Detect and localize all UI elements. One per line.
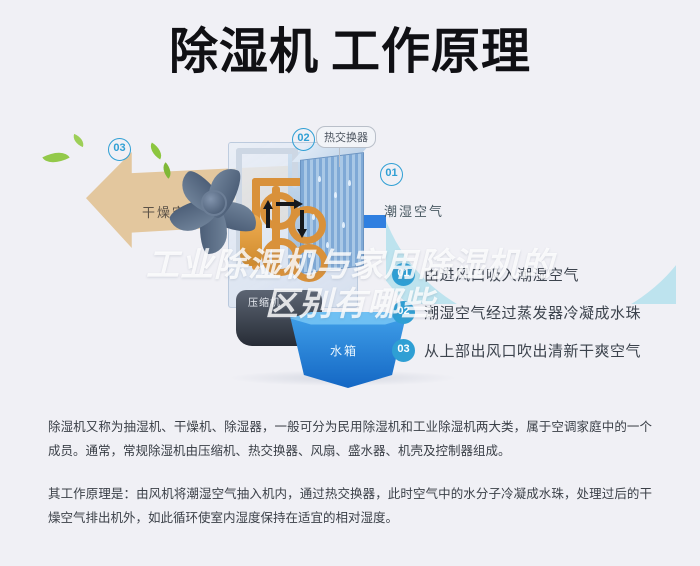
badge-number: 02 [292, 128, 315, 151]
heat-exchanger-callout: 热交换器 [316, 126, 376, 148]
step-text: 由进风口吸入潮湿空气 [424, 264, 579, 285]
badge-number: 01 [380, 163, 403, 186]
condensation-drop [334, 192, 337, 198]
step-text: 从上部出风口吹出清新干爽空气 [424, 340, 641, 361]
badge-number: 03 [108, 138, 131, 161]
page-root: 除湿机工作原理 01 潮湿空气 干燥空气 03 [0, 0, 700, 566]
list-item: 01 由进风口吸入潮湿空气 [392, 255, 692, 293]
flow-arrow-right-icon [276, 202, 294, 206]
diagram-badge-03: 03 [108, 138, 131, 161]
diagram-badge-01: 01 [380, 163, 403, 186]
title-part-1: 除湿机 [169, 25, 319, 79]
title-part-2: 工作原理 [331, 25, 531, 79]
water-tank-label: 水箱 [330, 342, 358, 359]
compressor-label: 压缩机 [248, 294, 281, 309]
condensation-drop [318, 176, 321, 182]
coil-loop [288, 206, 326, 244]
flow-arrow-up-icon [300, 210, 304, 230]
step-badge: 01 [392, 263, 415, 286]
pipe-segment [236, 148, 298, 154]
condensation-drop [312, 214, 315, 220]
body-copy: 除湿机又称为抽湿机、干燥机、除湿器，一般可分为民用除湿机和工业除湿机两大类，属于… [48, 415, 652, 549]
paragraph-1: 除湿机又称为抽湿机、干燥机、除湿器，一般可分为民用除湿机和工业除湿机两大类，属于… [48, 415, 652, 464]
page-title: 除湿机工作原理 [0, 28, 700, 77]
list-item: 03 从上部出风口吹出清新干爽空气 [392, 331, 692, 369]
condensation-drop [342, 222, 345, 228]
steps-list: 01 由进风口吸入潮湿空气 02 潮湿空气经过蒸发器冷凝成水珠 03 从上部出风… [392, 255, 692, 369]
fan-icon [163, 160, 267, 256]
paragraph-2: 其工作原理是：由风机将潮湿空气抽入机内，通过热交换器，此时空气中的水分子冷凝成水… [48, 482, 652, 531]
step-badge: 02 [392, 301, 415, 324]
step-badge: 03 [392, 339, 415, 362]
condensation-drop [308, 252, 311, 258]
leaf-icon [147, 143, 166, 160]
fan-hub [201, 190, 227, 216]
condensation-drop [348, 180, 351, 186]
humid-air-label: 潮湿空气 [384, 201, 444, 220]
coil-loop [290, 244, 328, 282]
list-item: 02 潮湿空气经过蒸发器冷凝成水珠 [392, 293, 692, 331]
leaf-icon [42, 146, 69, 169]
condensation-drop [326, 242, 329, 248]
leaf-icon [71, 134, 86, 147]
diagram-badge-02: 02 [292, 128, 315, 151]
step-text: 潮湿空气经过蒸发器冷凝成水珠 [424, 302, 641, 323]
flow-arrow-down-icon [266, 208, 270, 228]
